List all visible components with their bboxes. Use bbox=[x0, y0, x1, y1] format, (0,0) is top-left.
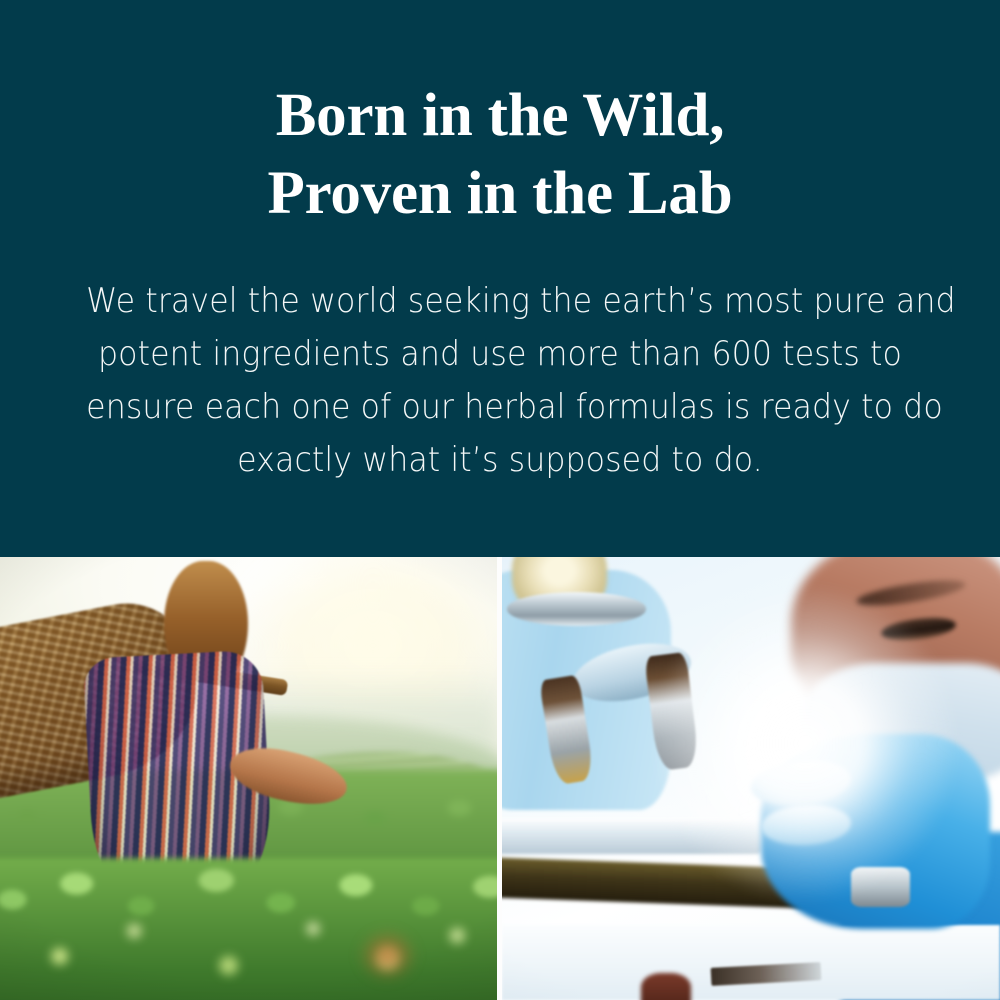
photo-strip bbox=[0, 557, 1000, 1000]
text-panel: Born in the Wild, Proven in the Lab We t… bbox=[0, 0, 1000, 557]
photo-vignette bbox=[0, 557, 497, 1000]
headline-line-1: Born in the Wild, bbox=[268, 78, 733, 154]
subcopy-line-1: We travel the world seeking the earth’s … bbox=[86, 275, 914, 328]
subcopy-line-2: potent ingredients and use more than 600… bbox=[86, 328, 914, 381]
photo-vignette bbox=[502, 557, 1000, 1000]
headline-line-2: Proven in the Lab bbox=[268, 156, 733, 232]
page-title: Born in the Wild, Proven in the Lab bbox=[268, 78, 733, 233]
subcopy-line-3: ensure each one of our herbal formulas i… bbox=[86, 381, 914, 434]
marketing-banner: Born in the Wild, Proven in the Lab We t… bbox=[0, 0, 1000, 1000]
laboratory-microscope-photo bbox=[502, 557, 1000, 1000]
tea-harvester-photo bbox=[0, 557, 497, 1000]
subcopy-line-4: exactly what it’s supposed to do. bbox=[86, 434, 914, 487]
subcopy-paragraph: We travel the world seeking the earth’s … bbox=[86, 275, 914, 487]
